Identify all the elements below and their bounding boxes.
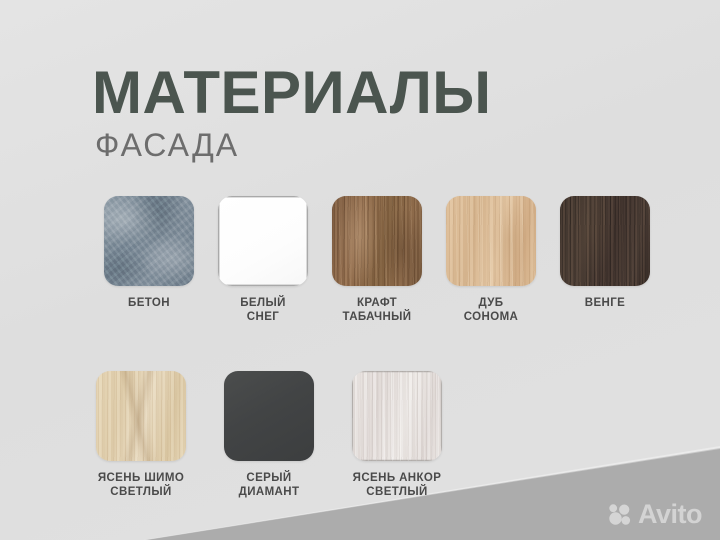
- material-swatch-sonoma[interactable]: [446, 196, 536, 286]
- material-label-ankor: ЯСЕНЬ АНКОР СВЕТЛЫЙ: [353, 472, 442, 499]
- material-swatch-diamant[interactable]: [224, 371, 314, 461]
- material-swatch-beton[interactable]: [104, 196, 194, 286]
- avito-dots-icon: [608, 504, 633, 526]
- material-label-white: БЕЛЫЙ СНЕГ: [240, 297, 286, 324]
- page-subtitle: ФАСАДА: [92, 124, 492, 166]
- texture-wood-shimo: [96, 371, 186, 461]
- material-label-venge: ВЕНГЕ: [585, 297, 625, 311]
- material-label-beton: БЕТОН: [128, 297, 170, 311]
- material-label-diamant: СЕРЫЙ ДИАМАНТ: [239, 472, 300, 499]
- material-card-white[interactable]: БЕЛЫЙ СНЕГ: [206, 196, 320, 324]
- avito-wordmark: Avito: [638, 501, 702, 528]
- material-swatch-venge[interactable]: [560, 196, 650, 286]
- texture-wood-kraft: [332, 196, 422, 286]
- texture-wood-ankor: [352, 371, 442, 461]
- material-card-sonoma[interactable]: ДУБ СОНОМА: [434, 196, 548, 324]
- material-card-kraft[interactable]: КРАФТ ТАБАЧНЫЙ: [320, 196, 434, 324]
- texture-solid-dark-grey: [224, 371, 314, 461]
- texture-wood-sonoma: [446, 196, 536, 286]
- materials-row-1: БЕТОН БЕЛЫЙ СНЕГ КРАФТ ТАБАЧНЫЙ ДУБ СОНО…: [0, 196, 720, 324]
- materials-grid: БЕТОН БЕЛЫЙ СНЕГ КРАФТ ТАБАЧНЫЙ ДУБ СОНО…: [0, 196, 720, 499]
- material-card-shimo[interactable]: ЯСЕНЬ ШИМО СВЕТЛЫЙ: [77, 371, 205, 499]
- avito-watermark: Avito: [608, 501, 702, 528]
- texture-solid-white: [218, 196, 308, 286]
- material-swatch-shimo[interactable]: [96, 371, 186, 461]
- page-title: МАТЕРИАЛЫ: [92, 62, 492, 124]
- materials-row-2: ЯСЕНЬ ШИМО СВЕТЛЫЙ СЕРЫЙ ДИАМАНТ ЯСЕНЬ А…: [0, 371, 720, 499]
- material-label-kraft: КРАФТ ТАБАЧНЫЙ: [343, 297, 412, 324]
- materials-poster: МАТЕРИАЛЫ ФАСАДА БЕТОН БЕЛЫЙ СНЕГ: [0, 0, 720, 540]
- material-label-sonoma: ДУБ СОНОМА: [464, 297, 519, 324]
- material-card-ankor[interactable]: ЯСЕНЬ АНКОР СВЕТЛЫЙ: [333, 371, 461, 499]
- material-card-diamant[interactable]: СЕРЫЙ ДИАМАНТ: [205, 371, 333, 499]
- material-card-beton[interactable]: БЕТОН: [92, 196, 206, 311]
- material-card-venge[interactable]: ВЕНГЕ: [548, 196, 662, 311]
- material-label-shimo: ЯСЕНЬ ШИМО СВЕТЛЫЙ: [98, 472, 184, 499]
- material-swatch-kraft[interactable]: [332, 196, 422, 286]
- material-swatch-white[interactable]: [218, 196, 308, 286]
- texture-wood-venge: [560, 196, 650, 286]
- material-swatch-ankor[interactable]: [352, 371, 442, 461]
- texture-concrete: [104, 196, 194, 286]
- heading-block: МАТЕРИАЛЫ ФАСАДА: [92, 62, 492, 166]
